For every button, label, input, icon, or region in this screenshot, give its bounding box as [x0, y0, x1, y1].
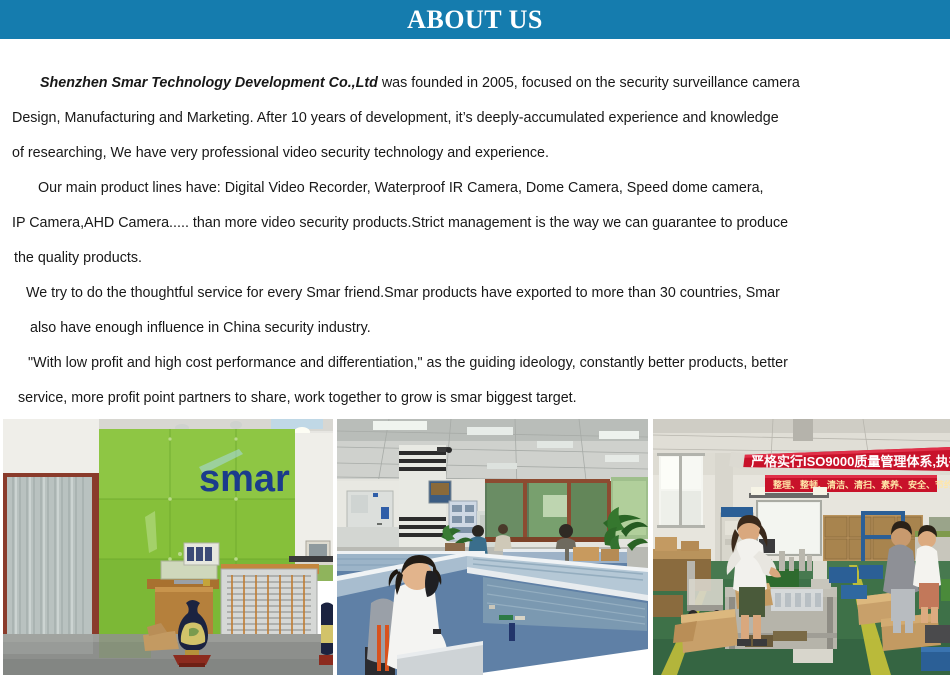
decorative-vase-right — [319, 603, 333, 666]
paragraph-3: We try to do the thoughtful service for … — [0, 276, 780, 346]
quality-banner-text: 严格实行ISO9000质量管理体系,执行 — [750, 454, 950, 469]
paragraph-2-line-3: the quality products. — [0, 241, 788, 276]
page-title: ABOUT US — [0, 0, 950, 39]
paragraph-4-line-2: service, more profit point partners to s… — [0, 381, 788, 416]
paragraph-4-line-1: "With low profit and high cost performan… — [0, 346, 788, 381]
paragraph-1-line-2: Design, Manufacturing and Marketing. Aft… — [0, 101, 800, 136]
page-header-bar: ABOUT US — [0, 0, 950, 39]
paragraph-2: Our main product lines have: Digital Vid… — [0, 171, 788, 276]
paragraph-2-line-1: Our main product lines have: Digital Vid… — [0, 171, 788, 206]
about-us-page: ABOUT US Shenzhen Smar Technology Develo… — [0, 0, 950, 675]
paragraph-1: Shenzhen Smar Technology Development Co.… — [0, 66, 800, 171]
paragraph-1-line-1: was founded in 2005, focused on the secu… — [378, 75, 800, 91]
paragraph-1-line-3: of researching, We have very professiona… — [0, 136, 800, 171]
company-name: Shenzhen Smar Technology Development Co.… — [40, 75, 378, 91]
paragraph-2-line-2: IP Camera,AHD Camera..... than more vide… — [0, 206, 788, 241]
paragraph-3-line-1: We try to do the thoughtful service for … — [0, 276, 780, 311]
smar-logo-text: smar — [199, 458, 290, 500]
paragraph-3-line-2: also have enough influence in China secu… — [0, 311, 780, 346]
photo-factory: 严格实行ISO9000质量管理体系,执行 整理、整顿、清洁、清扫、素养、安全、节… — [653, 419, 950, 675]
five-s-banner: 整理、整顿、清洁、清扫、素养、安全、节约 — [765, 475, 950, 492]
five-s-banner-text: 整理、整顿、清洁、清扫、素养、安全、节约 — [772, 479, 950, 490]
photo-strip: smar — [0, 419, 950, 675]
about-us-body: Shenzhen Smar Technology Development Co.… — [0, 39, 950, 418]
photo-office — [337, 419, 648, 675]
paragraph-4: "With low profit and high cost performan… — [0, 346, 788, 416]
photo-reception: smar — [3, 419, 333, 675]
